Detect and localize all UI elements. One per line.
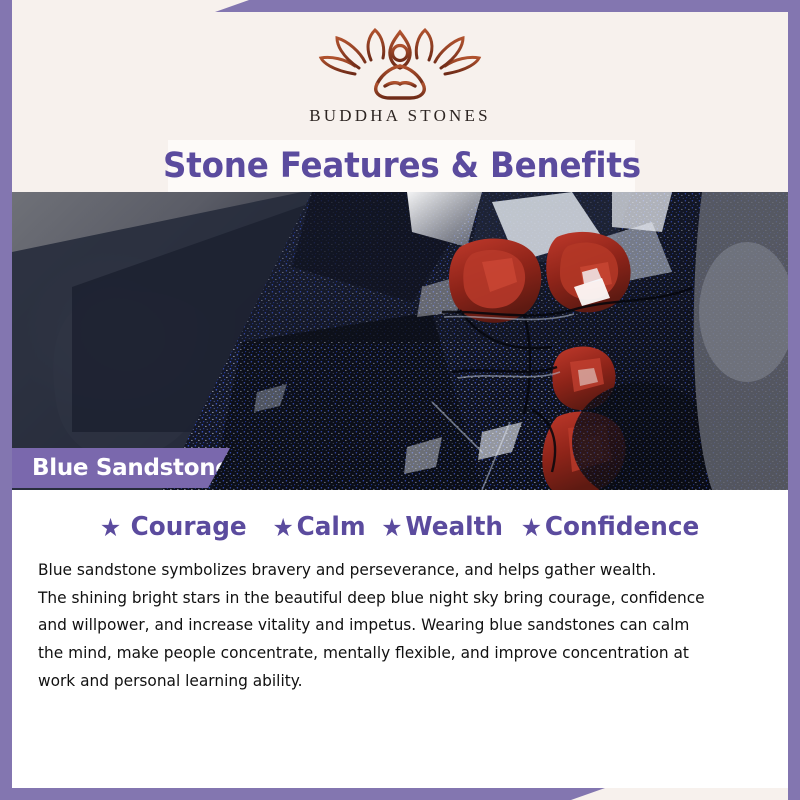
star-icon: ★	[381, 515, 402, 540]
benefit-label-courage: Courage	[130, 512, 246, 542]
description-line-2: The shining bright stars in the beautifu…	[38, 584, 729, 612]
stone-name-label: Blue Sandstone	[12, 455, 231, 481]
stone-name-badge: Blue Sandstone	[12, 448, 230, 488]
benefit-label-wealth: Wealth	[406, 512, 504, 542]
star-icon: ★	[273, 515, 294, 540]
brand-header: BUDDHA STONES	[12, 12, 788, 140]
description-line-3: and willpower, and increase vitality and…	[38, 611, 729, 639]
frame-band-left	[0, 0, 12, 800]
stone-photo	[12, 192, 788, 490]
brand-name: BUDDHA STONES	[309, 106, 491, 126]
benefit-item-confidence: ★ Confidence	[521, 512, 700, 542]
benefit-label-calm: Calm	[297, 512, 366, 542]
benefit-label-confidence: Confidence	[545, 512, 699, 542]
benefit-item-courage: ★ Courage	[100, 512, 247, 542]
description-line-4: the mind, make people concentrate, menta…	[38, 639, 729, 667]
frame-band-bottom	[0, 788, 605, 800]
infographic-page: BUDDHA STONES Stone Features & Benefits	[0, 0, 800, 800]
lotus-meditation-figure-icon	[315, 26, 485, 102]
page-title-banner: Stone Features & Benefits	[168, 140, 635, 192]
star-icon: ★	[100, 515, 121, 540]
frame-band-right	[788, 0, 800, 800]
stone-photo-graphic	[12, 192, 788, 490]
frame-band-top	[215, 0, 800, 12]
benefit-item-calm: ★ Calm	[273, 512, 366, 542]
description-text: Blue sandstone symbolizes bravery and pe…	[38, 556, 729, 694]
star-icon: ★	[521, 515, 542, 540]
page-title: Stone Features & Benefits	[163, 149, 641, 184]
benefit-item-wealth: ★ Wealth	[381, 512, 503, 542]
description-line-1: Blue sandstone symbolizes bravery and pe…	[38, 556, 729, 584]
benefits-list: ★ Courage ★ Calm ★ Wealth ★ Confidence	[12, 490, 788, 542]
content-panel: ★ Courage ★ Calm ★ Wealth ★ Confidence B…	[12, 490, 788, 788]
description-line-5: work and personal learning ability.	[38, 667, 729, 695]
brand-logo: BUDDHA STONES	[309, 26, 491, 126]
